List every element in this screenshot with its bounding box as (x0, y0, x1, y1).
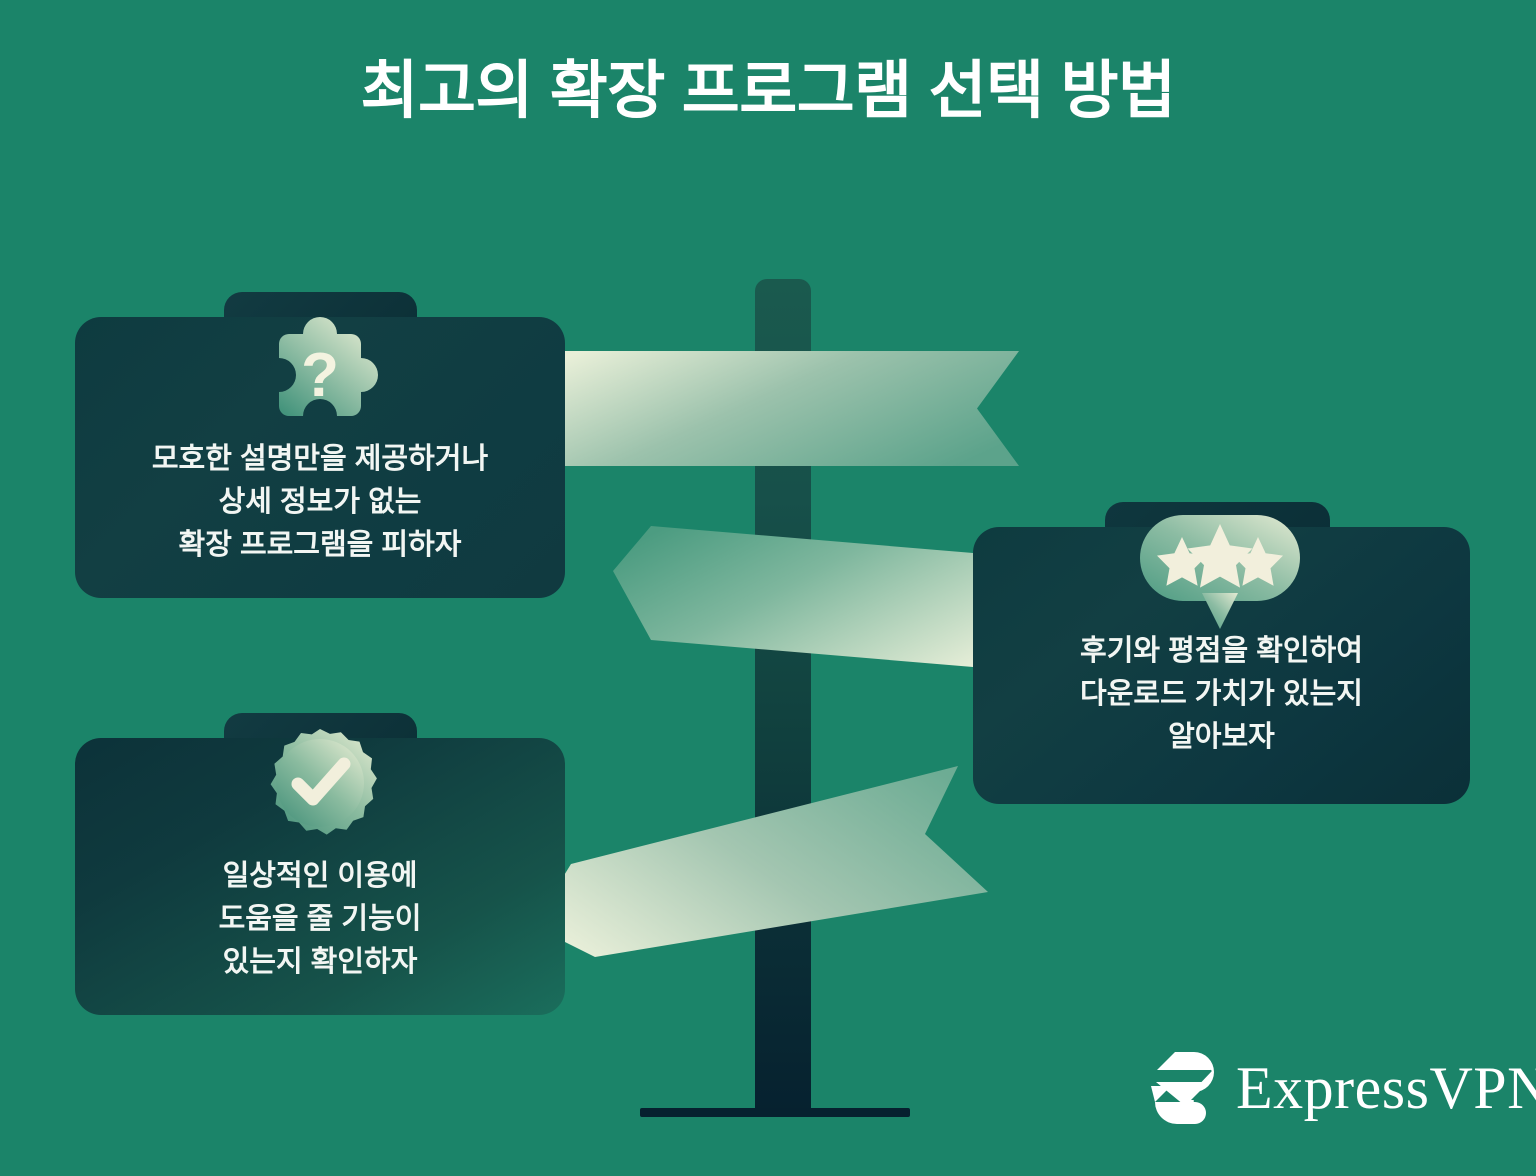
brand-name: ExpressVPN (1236, 1058, 1536, 1118)
puzzle-question-icon: ? (251, 312, 389, 440)
sign-board-middle-right-arrow (613, 512, 1025, 692)
brand-logo: ExpressVPN (1142, 1042, 1482, 1134)
svg-text:?: ? (301, 341, 339, 410)
verified-badge-check-icon (255, 726, 385, 856)
page-title: 최고의 확장 프로그램 선택 방법 (0, 58, 1536, 124)
infographic-canvas: 최고의 확장 프로그램 선택 방법 (0, 0, 1536, 1176)
card-useful-features: 일상적인 이용에 도움을 줄 기능이 있는지 확인하자 (75, 713, 565, 1015)
card-label: 일상적인 이용에 도움을 줄 기능이 있는지 확인하자 (75, 855, 565, 984)
card-avoid-vague: ? 모호한 설명만을 제공하거나 상세 정보가 없는 확장 프로그램을 피하자 (75, 292, 565, 598)
card-check-reviews: 후기와 평점을 확인하여 다운로드 가치가 있는지 알아보자 (973, 502, 1470, 804)
review-stars-speech-bubble-icon (1140, 515, 1300, 631)
card-label: 후기와 평점을 확인하여 다운로드 가치가 있는지 알아보자 (973, 630, 1470, 759)
signpost-base (640, 1108, 910, 1117)
sign-board-top-left-arrow (519, 346, 1019, 471)
sign-board-bottom-left-arrow (533, 760, 1001, 960)
expressvpn-e-logo-icon (1142, 1050, 1222, 1126)
card-label: 모호한 설명만을 제공하거나 상세 정보가 없는 확장 프로그램을 피하자 (75, 438, 565, 567)
